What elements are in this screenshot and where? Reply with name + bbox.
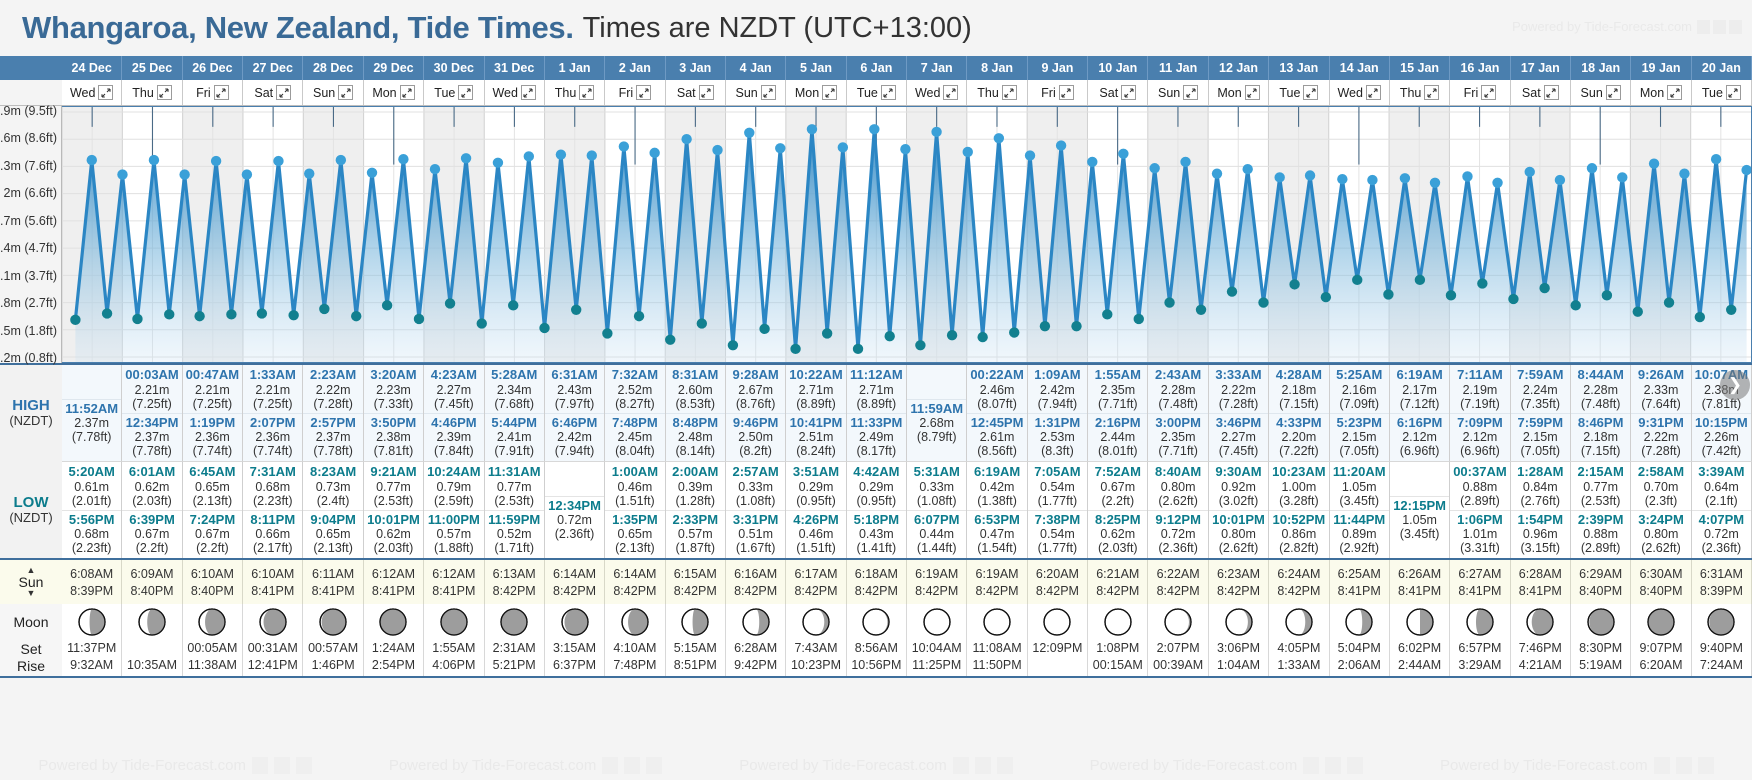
moon-set-time: 5:04PM [1330, 641, 1389, 656]
moon-set-label: Set [20, 641, 41, 659]
moon-set-time: 00:05AM [183, 641, 242, 656]
y-tick-2: 2.3m (7.6ft) [0, 159, 57, 173]
expand-icon[interactable] [636, 85, 651, 100]
expand-icon[interactable] [822, 85, 837, 100]
dayofweek-2[interactable]: Fri [183, 80, 243, 105]
date-header-7[interactable]: 31 Dec [485, 56, 545, 80]
low-height-ft: (3.15ft) [1511, 541, 1570, 555]
dayofweek-24[interactable]: Sat [1511, 80, 1571, 105]
date-header-16[interactable]: 9 Jan [1028, 56, 1088, 80]
high-height-ft: (8.76ft) [726, 397, 785, 411]
low-event: 12:15PM1.05m(3.45ft) [1390, 496, 1449, 543]
high-height-m: 2.71m [847, 383, 906, 397]
high-height-ft: (8.27ft) [605, 397, 664, 411]
low-cell-13: 4:42AM0.29m(0.95ft)5:18PM0.43m(1.41ft) [847, 461, 907, 558]
dayofweek-row: WedThuFriSatSunMonTueWedThuFriSatSunMonT… [0, 80, 1752, 106]
low-time: 7:31AM [243, 465, 302, 480]
footer-watermark-text: Powered by Tide-Forecast.com [739, 757, 947, 774]
moon-setrise-cell-6: 1:55AM4:06PM [424, 640, 484, 676]
dayofweek-0[interactable]: Wed [62, 80, 122, 105]
y-tick-3: 2m (6.6ft) [4, 186, 58, 200]
moon-rise-time: 00:39AM [1148, 658, 1207, 673]
sunset-time: 8:42PM [847, 584, 906, 598]
date-header-8[interactable]: 1 Jan [545, 56, 605, 80]
moon-set-time: 3:06PM [1209, 641, 1268, 656]
low-time: 8:11PM [243, 513, 302, 528]
dayofweek-15[interactable]: Thu [967, 80, 1027, 105]
low-height-m: 0.92m [1209, 480, 1268, 494]
low-event: 8:11PM0.66m(2.17ft) [243, 510, 302, 557]
low-height-m: 0.43m [847, 527, 906, 541]
dayofweek-25[interactable]: Sun [1571, 80, 1631, 105]
expand-icon[interactable] [157, 85, 172, 100]
low-height-m: 0.67m [1088, 480, 1147, 494]
low-time: 8:40AM [1148, 465, 1207, 480]
chart-y-axis: 2.9m (9.5ft)2.6m (8.6ft)2.3m (7.6ft)2m (… [0, 106, 62, 363]
high-cell-2: 00:47AM2.21m(7.25ft)1:19PM2.36m(7.74ft) [183, 365, 243, 461]
expand-icon[interactable] [276, 85, 291, 100]
date-header-5[interactable]: 29 Dec [364, 56, 424, 80]
high-time: 2:57PM [303, 416, 362, 431]
low-time: 2:15AM [1571, 465, 1630, 480]
moon-phase-icon [679, 606, 711, 638]
page-subtitle: Times are NZDT (UTC+13:00) [583, 12, 972, 45]
moon-cell-12 [786, 604, 846, 640]
dayofweek-text: Thu [977, 86, 999, 100]
sunrise-time: 6:08AM [62, 567, 121, 581]
date-header-13[interactable]: 6 Jan [847, 56, 907, 80]
sunset-time: 8:40PM [122, 584, 181, 598]
low-event: 7:52AM0.67m(2.2ft) [1088, 464, 1147, 509]
dayofweek-13[interactable]: Tue [847, 80, 907, 105]
dayofweek-11[interactable]: Sun [726, 80, 786, 105]
date-header-22[interactable]: 15 Jan [1390, 56, 1450, 80]
footer-badge-icon [1347, 757, 1363, 774]
dayofweek-21[interactable]: Wed [1330, 80, 1390, 105]
high-event: 12:34PM2.37m(7.78ft) [122, 413, 181, 460]
high-height-ft: (7.97ft) [545, 397, 604, 411]
low-time: 4:26PM [786, 513, 845, 528]
low-height-m: 0.33m [907, 480, 966, 494]
low-event: 5:20AM0.61m(2.01ft) [62, 464, 121, 509]
sunset-time: 8:41PM [1450, 584, 1509, 598]
low-height-ft: (2.62ft) [1148, 494, 1207, 508]
low-cell-23: 00:37AM0.88m(2.89ft)1:06PM1.01m(3.31ft) [1450, 461, 1510, 558]
moon-rise-time: 7:48PM [605, 658, 664, 673]
sun-cell-10: 6:15AM8:42PM [666, 560, 726, 604]
date-header-2[interactable]: 26 Dec [183, 56, 243, 80]
moon-phase-icon [1223, 606, 1255, 638]
dayofweek-text: Wed [70, 86, 95, 100]
high-cell-11: 9:28AM2.67m(8.76ft)9:46PM2.50m(8.2ft) [726, 365, 786, 461]
date-cells: 24 Dec25 Dec26 Dec27 Dec28 Dec29 Dec30 D… [62, 56, 1752, 80]
moon-cell-5 [364, 604, 424, 640]
high-time: 3:33AM [1209, 368, 1268, 383]
scroll-right-button[interactable]: ❯ [1720, 370, 1750, 400]
dayofweek-text: Sun [313, 86, 335, 100]
high-cell-4: 2:23AM2.22m(7.28ft)2:57PM2.37m(7.78ft) [303, 365, 363, 461]
moon-set-time: 7:46PM [1511, 641, 1570, 656]
footer-badge-icon [1654, 757, 1670, 774]
high-time: 8:48PM [666, 416, 725, 431]
date-header-11[interactable]: 4 Jan [726, 56, 786, 80]
sun-cell-21: 6:25AM8:41PM [1330, 560, 1390, 604]
expand-icon[interactable] [1544, 85, 1559, 100]
moon-cell-18 [1148, 604, 1208, 640]
sunset-time: 8:42PM [786, 584, 845, 598]
high-height-ft: (7.25ft) [243, 397, 302, 411]
dayofweek-26[interactable]: Mon [1631, 80, 1691, 105]
dayofweek-23[interactable]: Fri [1450, 80, 1510, 105]
date-header-17[interactable]: 10 Jan [1088, 56, 1148, 80]
high-height-m: 2.71m [786, 383, 845, 397]
high-event: 2:43AM2.28m(7.48ft) [1148, 367, 1207, 412]
moon-phase-icon [136, 606, 168, 638]
expand-icon[interactable] [1183, 85, 1198, 100]
sunrise-time: 6:24AM [1269, 567, 1328, 581]
low-height-ft: (1.77ft) [1028, 541, 1087, 555]
low-height-m: 0.57m [424, 527, 483, 541]
moon-set-time: 00:31AM [243, 641, 302, 656]
low-cell-21: 11:20AM1.05m(3.45ft)11:44PM0.89m(2.92ft) [1330, 461, 1390, 558]
high-height-ft: (7.05ft) [1511, 444, 1570, 458]
y-tick-6: 1.1m (3.7ft) [0, 269, 57, 283]
moon-setrise-cell-17: 1:08PM00:15AM [1088, 640, 1148, 676]
high-height-m: 2.41m [485, 430, 544, 444]
dayofweek-19[interactable]: Mon [1209, 80, 1269, 105]
sunset-time: 8:42PM [605, 584, 664, 598]
expand-icon[interactable] [579, 85, 594, 100]
low-time: 9:21AM [364, 465, 423, 480]
high-event: 00:03AM2.21m(7.25ft) [122, 367, 181, 412]
low-height-ft: (1.87ft) [666, 541, 725, 555]
moon-cell-13 [847, 604, 907, 640]
low-cell-9: 1:00AM0.46m(1.51ft)1:35PM0.65m(2.13ft) [605, 461, 665, 558]
expand-icon[interactable] [1667, 85, 1682, 100]
low-cell-8: 12:34PM0.72m(2.36ft) [545, 461, 605, 558]
chart-plot-area[interactable] [62, 106, 1752, 363]
low-height-ft: (2.89ft) [1571, 541, 1630, 555]
high-event: 4:33PM2.20m(7.22ft) [1269, 413, 1328, 460]
date-header-0[interactable]: 24 Dec [62, 56, 122, 80]
moon-rise-time: 11:25PM [907, 658, 966, 673]
high-time: 2:07PM [243, 416, 302, 431]
low-height-m: 0.72m [545, 513, 604, 527]
sunset-time: 8:40PM [1571, 584, 1630, 598]
low-time: 3:51AM [786, 465, 845, 480]
date-header-3[interactable]: 27 Dec [243, 56, 303, 80]
low-height-m: 0.79m [424, 480, 483, 494]
high-event: 9:31PM2.22m(7.28ft) [1631, 413, 1690, 460]
low-time: 1:00AM [605, 465, 664, 480]
high-time: 1:19PM [183, 416, 242, 431]
high-height-m: 2.53m [1028, 430, 1087, 444]
low-height-m: 0.67m [183, 527, 242, 541]
moon-setrise-cell-22: 6:02PM2:44AM [1390, 640, 1450, 676]
low-cell-19: 9:30AM0.92m(3.02ft)10:01PM0.80m(2.62ft) [1209, 461, 1269, 558]
expand-icon[interactable] [699, 85, 714, 100]
low-height-m: 0.80m [1148, 480, 1207, 494]
date-header-12[interactable]: 5 Jan [786, 56, 846, 80]
moon-setrise-label: Set Rise [0, 640, 62, 676]
low-time: 6:45AM [183, 465, 242, 480]
low-height-m: 0.65m [303, 527, 362, 541]
moon-rise-time: 8:51PM [666, 658, 725, 673]
sunrise-time: 6:16AM [726, 567, 785, 581]
date-header-21[interactable]: 14 Jan [1330, 56, 1390, 80]
expand-icon[interactable] [1424, 85, 1439, 100]
high-time: 11:12AM [847, 368, 906, 383]
low-event: 1:06PM1.01m(3.31ft) [1450, 510, 1509, 557]
dayofweek-17[interactable]: Sat [1088, 80, 1148, 105]
low-height-m: 0.68m [243, 480, 302, 494]
low-height-ft: (2.1ft) [1692, 494, 1751, 508]
expand-icon[interactable] [1002, 85, 1017, 100]
high-height-m: 2.22m [303, 383, 362, 397]
low-event: 2:58AM0.70m(2.3ft) [1631, 464, 1690, 509]
low-cell-22: 12:15PM1.05m(3.45ft) [1390, 461, 1450, 558]
dayofweek-12[interactable]: Mon [786, 80, 846, 105]
high-time: 1:55AM [1088, 368, 1147, 383]
low-time: 7:05AM [1028, 465, 1087, 480]
low-height-ft: (1.51ft) [786, 541, 845, 555]
dayofweek-22[interactable]: Thu [1390, 80, 1450, 105]
expand-icon[interactable] [943, 85, 958, 100]
sunrise-time: 6:18AM [847, 567, 906, 581]
sunset-time: 8:42PM [1088, 584, 1147, 598]
low-time: 10:01PM [364, 513, 423, 528]
low-event: 1:35PM0.65m(2.13ft) [605, 510, 664, 557]
footer-badge-icon [1698, 757, 1714, 774]
low-time: 6:39PM [122, 513, 181, 528]
low-time: 12:15PM [1390, 499, 1449, 514]
sun-cell-3: 6:10AM8:41PM [243, 560, 303, 604]
high-height-ft: (7.48ft) [1148, 397, 1207, 411]
high-time: 8:46PM [1571, 416, 1630, 431]
moon-phase-icon [1585, 606, 1617, 638]
expand-icon[interactable] [400, 85, 415, 100]
high-cell-25: 8:44AM2.28m(7.48ft)8:46PM2.18m(7.15ft) [1571, 365, 1631, 461]
sun-cell-5: 6:12AM8:41PM [364, 560, 424, 604]
low-height-ft: (2.76ft) [1511, 494, 1570, 508]
high-time: 9:28AM [726, 368, 785, 383]
date-header-25[interactable]: 18 Jan [1571, 56, 1631, 80]
low-cell-25: 2:15AM0.77m(2.53ft)2:39PM0.88m(2.89ft) [1571, 461, 1631, 558]
expand-icon[interactable] [881, 85, 896, 100]
date-header-24[interactable]: 17 Jan [1511, 56, 1571, 80]
low-event: 1:00AM0.46m(1.51ft) [605, 464, 664, 509]
date-header-6[interactable]: 30 Dec [424, 56, 484, 80]
high-time: 5:23PM [1330, 416, 1389, 431]
date-header-9[interactable]: 2 Jan [605, 56, 665, 80]
low-event: 00:37AM0.88m(2.89ft) [1450, 464, 1509, 509]
low-height-m: 0.80m [1209, 527, 1268, 541]
date-header-23[interactable]: 16 Jan [1450, 56, 1510, 80]
high-event: 2:57PM2.37m(7.78ft) [303, 413, 362, 460]
expand-icon[interactable] [1303, 85, 1318, 100]
sunrise-time: 6:12AM [364, 567, 423, 581]
high-height-m: 2.12m [1390, 430, 1449, 444]
high-height-m: 2.34m [485, 383, 544, 397]
high-time: 3:00PM [1148, 416, 1207, 431]
high-time: 6:16PM [1390, 416, 1449, 431]
moon-cell-8 [545, 604, 605, 640]
low-height-m: 0.51m [726, 527, 785, 541]
low-time: 11:31AM [485, 465, 544, 480]
low-height-m: 0.72m [1692, 527, 1751, 541]
dayofweek-8[interactable]: Thu [545, 80, 605, 105]
moon-set-time: 10:04AM [907, 641, 966, 656]
date-header-18[interactable]: 11 Jan [1148, 56, 1208, 80]
high-height-m: 2.37m [303, 430, 362, 444]
low-event: 9:12PM0.72m(2.36ft) [1148, 510, 1207, 557]
dayofweek-9[interactable]: Fri [605, 80, 665, 105]
moon-rise-time: 2:44AM [1390, 658, 1449, 673]
expand-icon[interactable] [214, 85, 229, 100]
high-height-m: 2.49m [847, 430, 906, 444]
date-header-1[interactable]: 25 Dec [122, 56, 182, 80]
high-height-ft: (8.3ft) [1028, 444, 1087, 458]
date-header-19[interactable]: 12 Jan [1209, 56, 1269, 80]
dayofweek-6[interactable]: Tue [424, 80, 484, 105]
low-event: 10:23AM1.00m(3.28ft) [1269, 464, 1328, 509]
moon-rise-time: 3:29AM [1450, 658, 1509, 673]
high-time: 8:44AM [1571, 368, 1630, 383]
moon-setrise-cell-2: 00:05AM11:38AM [183, 640, 243, 676]
date-header-26[interactable]: 19 Jan [1631, 56, 1691, 80]
high-time: 7:32AM [605, 368, 664, 383]
moon-rise-time: 1:33AM [1269, 658, 1328, 673]
expand-icon[interactable] [1726, 85, 1741, 100]
sunset-time: 8:39PM [1692, 584, 1751, 598]
sunset-time: 8:41PM [303, 584, 362, 598]
low-cell-5: 9:21AM0.77m(2.53ft)10:01PM0.62m(2.03ft) [364, 461, 424, 558]
high-cell-9: 7:32AM2.52m(8.27ft)7:48PM2.45m(8.04ft) [605, 365, 665, 461]
moon-rise-time: 6:20AM [1631, 658, 1690, 673]
moon-phase-icon [800, 606, 832, 638]
dayofweek-text: Fri [1464, 86, 1479, 100]
expand-icon[interactable] [1366, 85, 1381, 100]
low-event: 9:04PM0.65m(2.13ft) [303, 510, 362, 557]
expand-icon[interactable] [1059, 85, 1074, 100]
moon-phase-icon [981, 606, 1013, 638]
low-time: 9:30AM [1209, 465, 1268, 480]
dayofweek-14[interactable]: Wed [907, 80, 967, 105]
date-header-14[interactable]: 7 Jan [907, 56, 967, 80]
low-height-m: 0.42m [967, 480, 1026, 494]
expand-icon[interactable] [1245, 85, 1260, 100]
expand-icon[interactable] [1481, 85, 1496, 100]
low-time: 3:31PM [726, 513, 785, 528]
high-event: 5:28AM2.34m(7.68ft) [485, 367, 544, 412]
date-header-15[interactable]: 8 Jan [967, 56, 1027, 80]
low-cell-3: 7:31AM0.68m(2.23ft)8:11PM0.66m(2.17ft) [243, 461, 303, 558]
expand-icon[interactable] [98, 85, 113, 100]
dayofweek-5[interactable]: Mon [364, 80, 424, 105]
high-height-m: 2.24m [1511, 383, 1570, 397]
date-header-20[interactable]: 13 Jan [1269, 56, 1329, 80]
expand-icon[interactable] [521, 85, 536, 100]
sunset-time: 8:42PM [1209, 584, 1268, 598]
low-event: 11:59PM0.52m(1.71ft) [485, 510, 544, 557]
moon-set-time: 9:40PM [1692, 641, 1751, 656]
low-height-ft: (2.59ft) [424, 494, 483, 508]
low-cell-6: 10:24AM0.79m(2.59ft)11:00PM0.57m(1.88ft) [424, 461, 484, 558]
high-height-ft: (7.71ft) [1088, 397, 1147, 411]
dayofweek-20[interactable]: Tue [1269, 80, 1329, 105]
high-height-m: 2.68m [907, 416, 966, 430]
high-height-m: 2.22m [1209, 383, 1268, 397]
low-label-sub: (NZDT) [9, 511, 52, 526]
moon-setrise-cell-4: 00:57AM1:46PM [303, 640, 363, 676]
low-time: 7:24PM [183, 513, 242, 528]
low-height-m: 0.88m [1571, 527, 1630, 541]
dayofweek-27[interactable]: Tue [1692, 80, 1752, 105]
low-cell-27: 3:39AM0.64m(2.1ft)4:07PM0.72m(2.36ft) [1692, 461, 1752, 558]
low-height-ft: (2.53ft) [1571, 494, 1630, 508]
dayofweek-3[interactable]: Sat [243, 80, 303, 105]
date-header-27[interactable]: 20 Jan [1692, 56, 1752, 80]
high-time: 9:31PM [1631, 416, 1690, 431]
dayofweek-text: Mon [1640, 86, 1664, 100]
expand-icon[interactable] [1121, 85, 1136, 100]
high-height-m: 2.52m [605, 383, 664, 397]
high-time: 11:52AM [62, 402, 121, 417]
sun-cell-25: 6:29AM8:40PM [1571, 560, 1631, 604]
dayofweek-10[interactable]: Sat [666, 80, 726, 105]
moon-phase-icon [921, 606, 953, 638]
sun-cell-12: 6:17AM8:42PM [786, 560, 846, 604]
moon-phase-icon [860, 606, 892, 638]
date-header-4[interactable]: 28 Dec [303, 56, 363, 80]
high-tide-label: HIGH (NZDT) [0, 365, 62, 461]
high-cell-26: 9:26AM2.33m(7.64ft)9:31PM2.22m(7.28ft) [1631, 365, 1691, 461]
low-height-m: 1.05m [1390, 513, 1449, 527]
dayofweek-16[interactable]: Fri [1028, 80, 1088, 105]
high-cell-18: 2:43AM2.28m(7.48ft)3:00PM2.35m(7.71ft) [1148, 365, 1208, 461]
sunset-time: 8:41PM [364, 584, 423, 598]
sunset-time: 8:40PM [183, 584, 242, 598]
moon-set-time: 3:15AM [545, 641, 604, 656]
low-height-ft: (1.28ft) [666, 494, 725, 508]
dayofweek-7[interactable]: Wed [485, 80, 545, 105]
footer-watermark-3: Powered by Tide-Forecast.com [1051, 757, 1401, 774]
expand-icon[interactable] [1606, 85, 1621, 100]
high-height-ft: (7.84ft) [424, 444, 483, 458]
sun-cell-15: 6:19AM8:42PM [967, 560, 1027, 604]
dayofweek-4[interactable]: Sun [303, 80, 363, 105]
dayofweek-1[interactable]: Thu [122, 80, 182, 105]
high-height-ft: (8.14ft) [666, 444, 725, 458]
high-height-ft: (8.53ft) [666, 397, 725, 411]
expand-icon[interactable] [458, 85, 473, 100]
moon-label: Moon [0, 604, 62, 640]
moon-set-time: 11:08AM [967, 641, 1026, 656]
high-height-m: 2.27m [424, 383, 483, 397]
high-height-ft: (7.81ft) [1692, 397, 1751, 411]
low-event: 2:00AM0.39m(1.28ft) [666, 464, 725, 509]
low-time: 11:44PM [1330, 513, 1389, 528]
dayofweek-18[interactable]: Sun [1148, 80, 1208, 105]
date-header-10[interactable]: 3 Jan [666, 56, 726, 80]
moon-set-time: 9:07PM [1631, 641, 1690, 656]
expand-icon[interactable] [761, 85, 776, 100]
dayofweek-text: Fri [196, 86, 211, 100]
moon-cell-16 [1028, 604, 1088, 640]
expand-icon[interactable] [338, 85, 353, 100]
high-height-ft: (7.22ft) [1269, 444, 1328, 458]
high-height-ft: (8.17ft) [847, 444, 906, 458]
